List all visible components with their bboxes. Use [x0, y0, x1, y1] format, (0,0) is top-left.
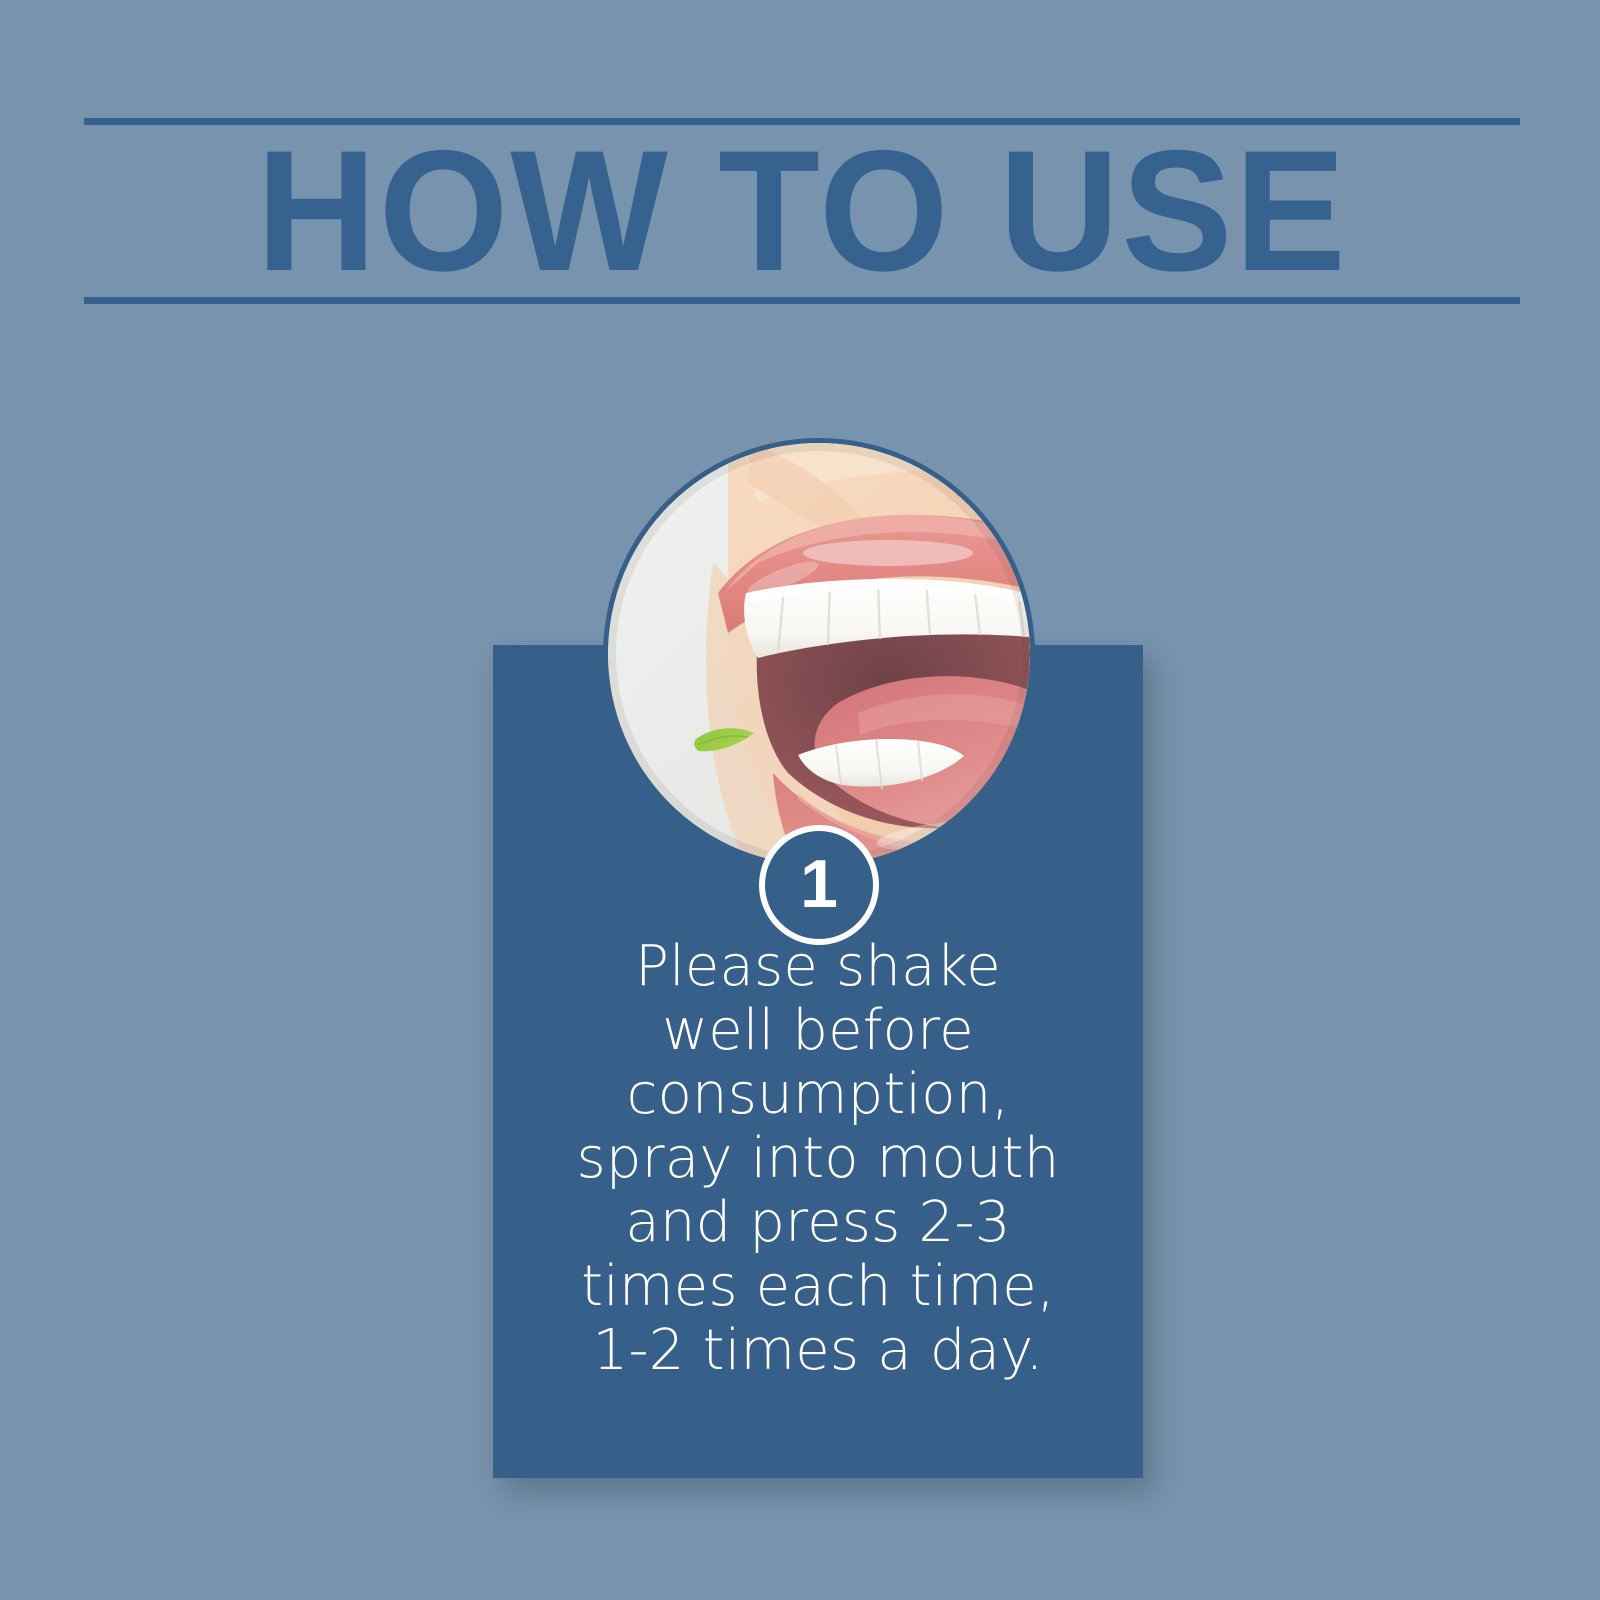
header-rule-bottom	[84, 297, 1520, 304]
step-instruction-text: Please shake well before consumption, sp…	[503, 935, 1133, 1383]
page-title: HOW TO USE	[106, 125, 1499, 297]
step-text-line: 1-2 times a day.	[503, 1319, 1133, 1383]
open-mouth-teeth-photo	[608, 443, 1030, 865]
header: HOW TO USE	[84, 118, 1520, 304]
step-photo	[608, 443, 1030, 865]
step-text-line: times each time,	[503, 1255, 1133, 1319]
step-text-line: and press 2-3	[503, 1191, 1133, 1255]
step-number-badge: 1	[759, 825, 879, 945]
poster-canvas: HOW TO USE	[0, 0, 1600, 1600]
step-number-label: 1	[800, 850, 838, 918]
step-text-line: Please shake	[503, 935, 1133, 999]
step-text-line: consumption,	[503, 1063, 1133, 1127]
step-text-line: spray into mouth	[503, 1127, 1133, 1191]
step-text-line: well before	[503, 999, 1133, 1063]
